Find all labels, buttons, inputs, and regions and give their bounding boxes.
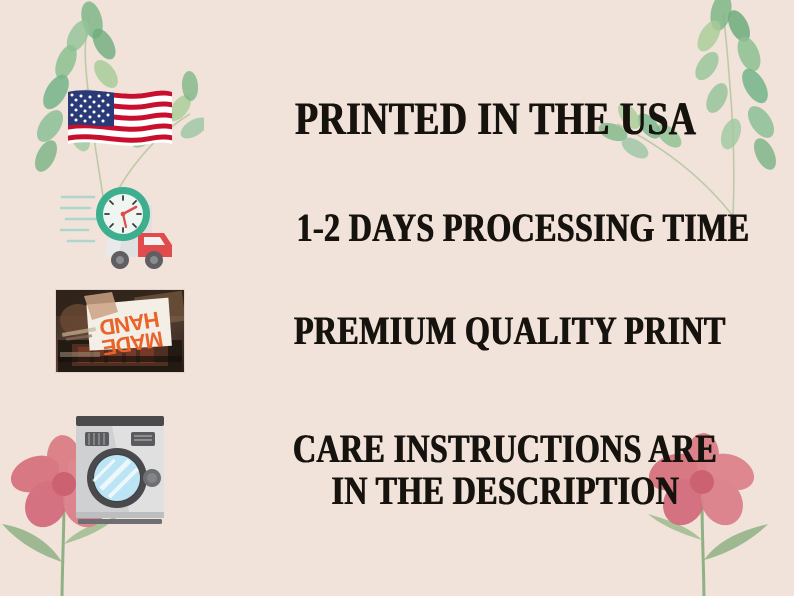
feature-text-cell: 1-2 DAYS PROCESSING TIME bbox=[240, 207, 794, 249]
feature-text-cell: PRINTED IN THE USA bbox=[240, 95, 794, 145]
fast-delivery-truck-clock-icon bbox=[60, 181, 180, 276]
feature-text-cell: CARE INSTRUCTIONS ARE IN THE DESCRIPTION bbox=[240, 428, 794, 513]
feature-line-printed-in-usa: PRINTED IN THE USA bbox=[295, 95, 696, 145]
feature-text-cell: PREMIUM QUALITY PRINT bbox=[240, 310, 794, 352]
us-flag-icon bbox=[66, 86, 174, 154]
feature-line-premium-quality: PREMIUM QUALITY PRINT bbox=[294, 310, 726, 352]
promo-graphic-canvas: PRINTED IN THE USA bbox=[0, 0, 794, 596]
washing-machine-icon bbox=[72, 412, 168, 528]
feature-line-care-instructions-2: IN THE DESCRIPTION bbox=[331, 470, 679, 512]
feature-row-care-instructions: CARE INSTRUCTIONS ARE IN THE DESCRIPTION bbox=[0, 404, 794, 536]
feature-line-processing-time: 1-2 DAYS PROCESSING TIME bbox=[297, 207, 750, 249]
feature-line-care-instructions-1: CARE INSTRUCTIONS ARE bbox=[293, 428, 717, 470]
feature-icon-cell: HAND MADE bbox=[0, 290, 240, 372]
feature-row-premium-quality: HAND MADE PREMIUM QUALITY PRINT bbox=[0, 285, 794, 377]
screen-printing-photo: HAND MADE bbox=[56, 290, 184, 372]
feature-icon-cell bbox=[0, 412, 240, 528]
feature-row-processing-time: 1-2 DAYS PROCESSING TIME bbox=[0, 182, 794, 274]
feature-icon-cell bbox=[0, 181, 240, 276]
feature-icon-cell bbox=[0, 86, 240, 154]
feature-row-printed-in-usa: PRINTED IN THE USA bbox=[0, 74, 794, 166]
